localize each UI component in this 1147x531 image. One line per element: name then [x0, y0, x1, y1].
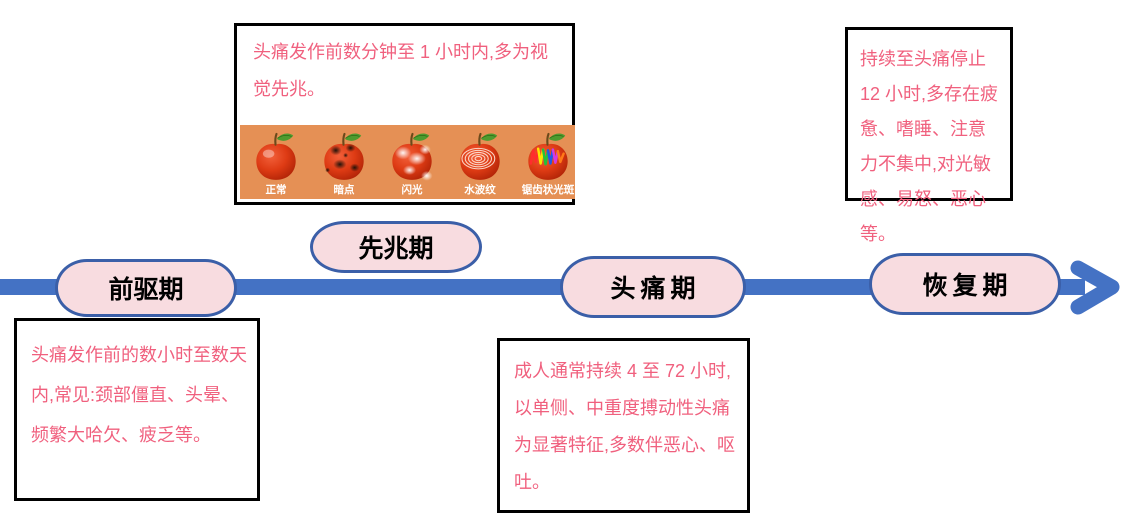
note-text-prodrome: 头痛发作前的数小时至数天内,常见:颈部僵直、头晕、频繁大哈欠、疲乏等。: [17, 321, 257, 455]
phase-pill-headache[interactable]: 头痛期: [560, 256, 746, 318]
note-box-recovery: 持续至头痛停止 12 小时,多存在疲惫、嗜睡、注意力不集中,对光敏感、易怒、恶心…: [845, 27, 1013, 201]
note-box-prodrome: 头痛发作前的数小时至数天内,常见:颈部僵直、头晕、频繁大哈欠、疲乏等。: [14, 318, 260, 501]
phase-pill-recovery[interactable]: 恢复期: [869, 253, 1061, 315]
aura-caption-2: 闪光: [402, 183, 423, 196]
aura-visual-illustration: 正常 暗点 闪光 水波纹 锯齿状光斑: [240, 125, 575, 199]
arrow-right-icon: [1068, 258, 1130, 318]
note-box-aura: 头痛发作前数分钟至 1 小时内,多为视觉先兆。: [234, 23, 575, 205]
note-text-headache: 成人通常持续 4 至 72 小时,以单侧、中重度搏动性头痛为显著特征,多数伴恶心…: [500, 341, 747, 501]
aura-caption-0: 正常: [266, 183, 287, 196]
migraine-timeline-diagram: 前驱期 先兆期 头痛期 恢复期 头痛发作前数分钟至 1 小时内,多为视觉先兆。: [0, 0, 1147, 531]
note-box-headache: 成人通常持续 4 至 72 小时,以单侧、中重度搏动性头痛为显著特征,多数伴恶心…: [497, 338, 750, 513]
note-text-aura: 头痛发作前数分钟至 1 小时内,多为视觉先兆。: [237, 26, 572, 108]
apple-aura-figure-icon: 正常 暗点 闪光 水波纹 锯齿状光斑: [240, 125, 575, 199]
phase-label-prodrome: 前驱期: [108, 270, 183, 306]
phase-label-recovery: 恢复期: [917, 266, 1012, 302]
aura-caption-1: 暗点: [334, 183, 355, 196]
phase-pill-prodrome[interactable]: 前驱期: [55, 259, 237, 317]
note-text-recovery: 持续至头痛停止 12 小时,多存在疲惫、嗜睡、注意力不集中,对光敏感、易怒、恶心…: [848, 30, 1010, 252]
aura-caption-3: 水波纹: [463, 183, 496, 196]
phase-label-headache: 头痛期: [605, 269, 700, 305]
phase-label-aura: 先兆期: [358, 229, 433, 265]
phase-pill-aura[interactable]: 先兆期: [310, 221, 482, 273]
aura-caption-4: 锯齿状光斑: [522, 183, 575, 196]
